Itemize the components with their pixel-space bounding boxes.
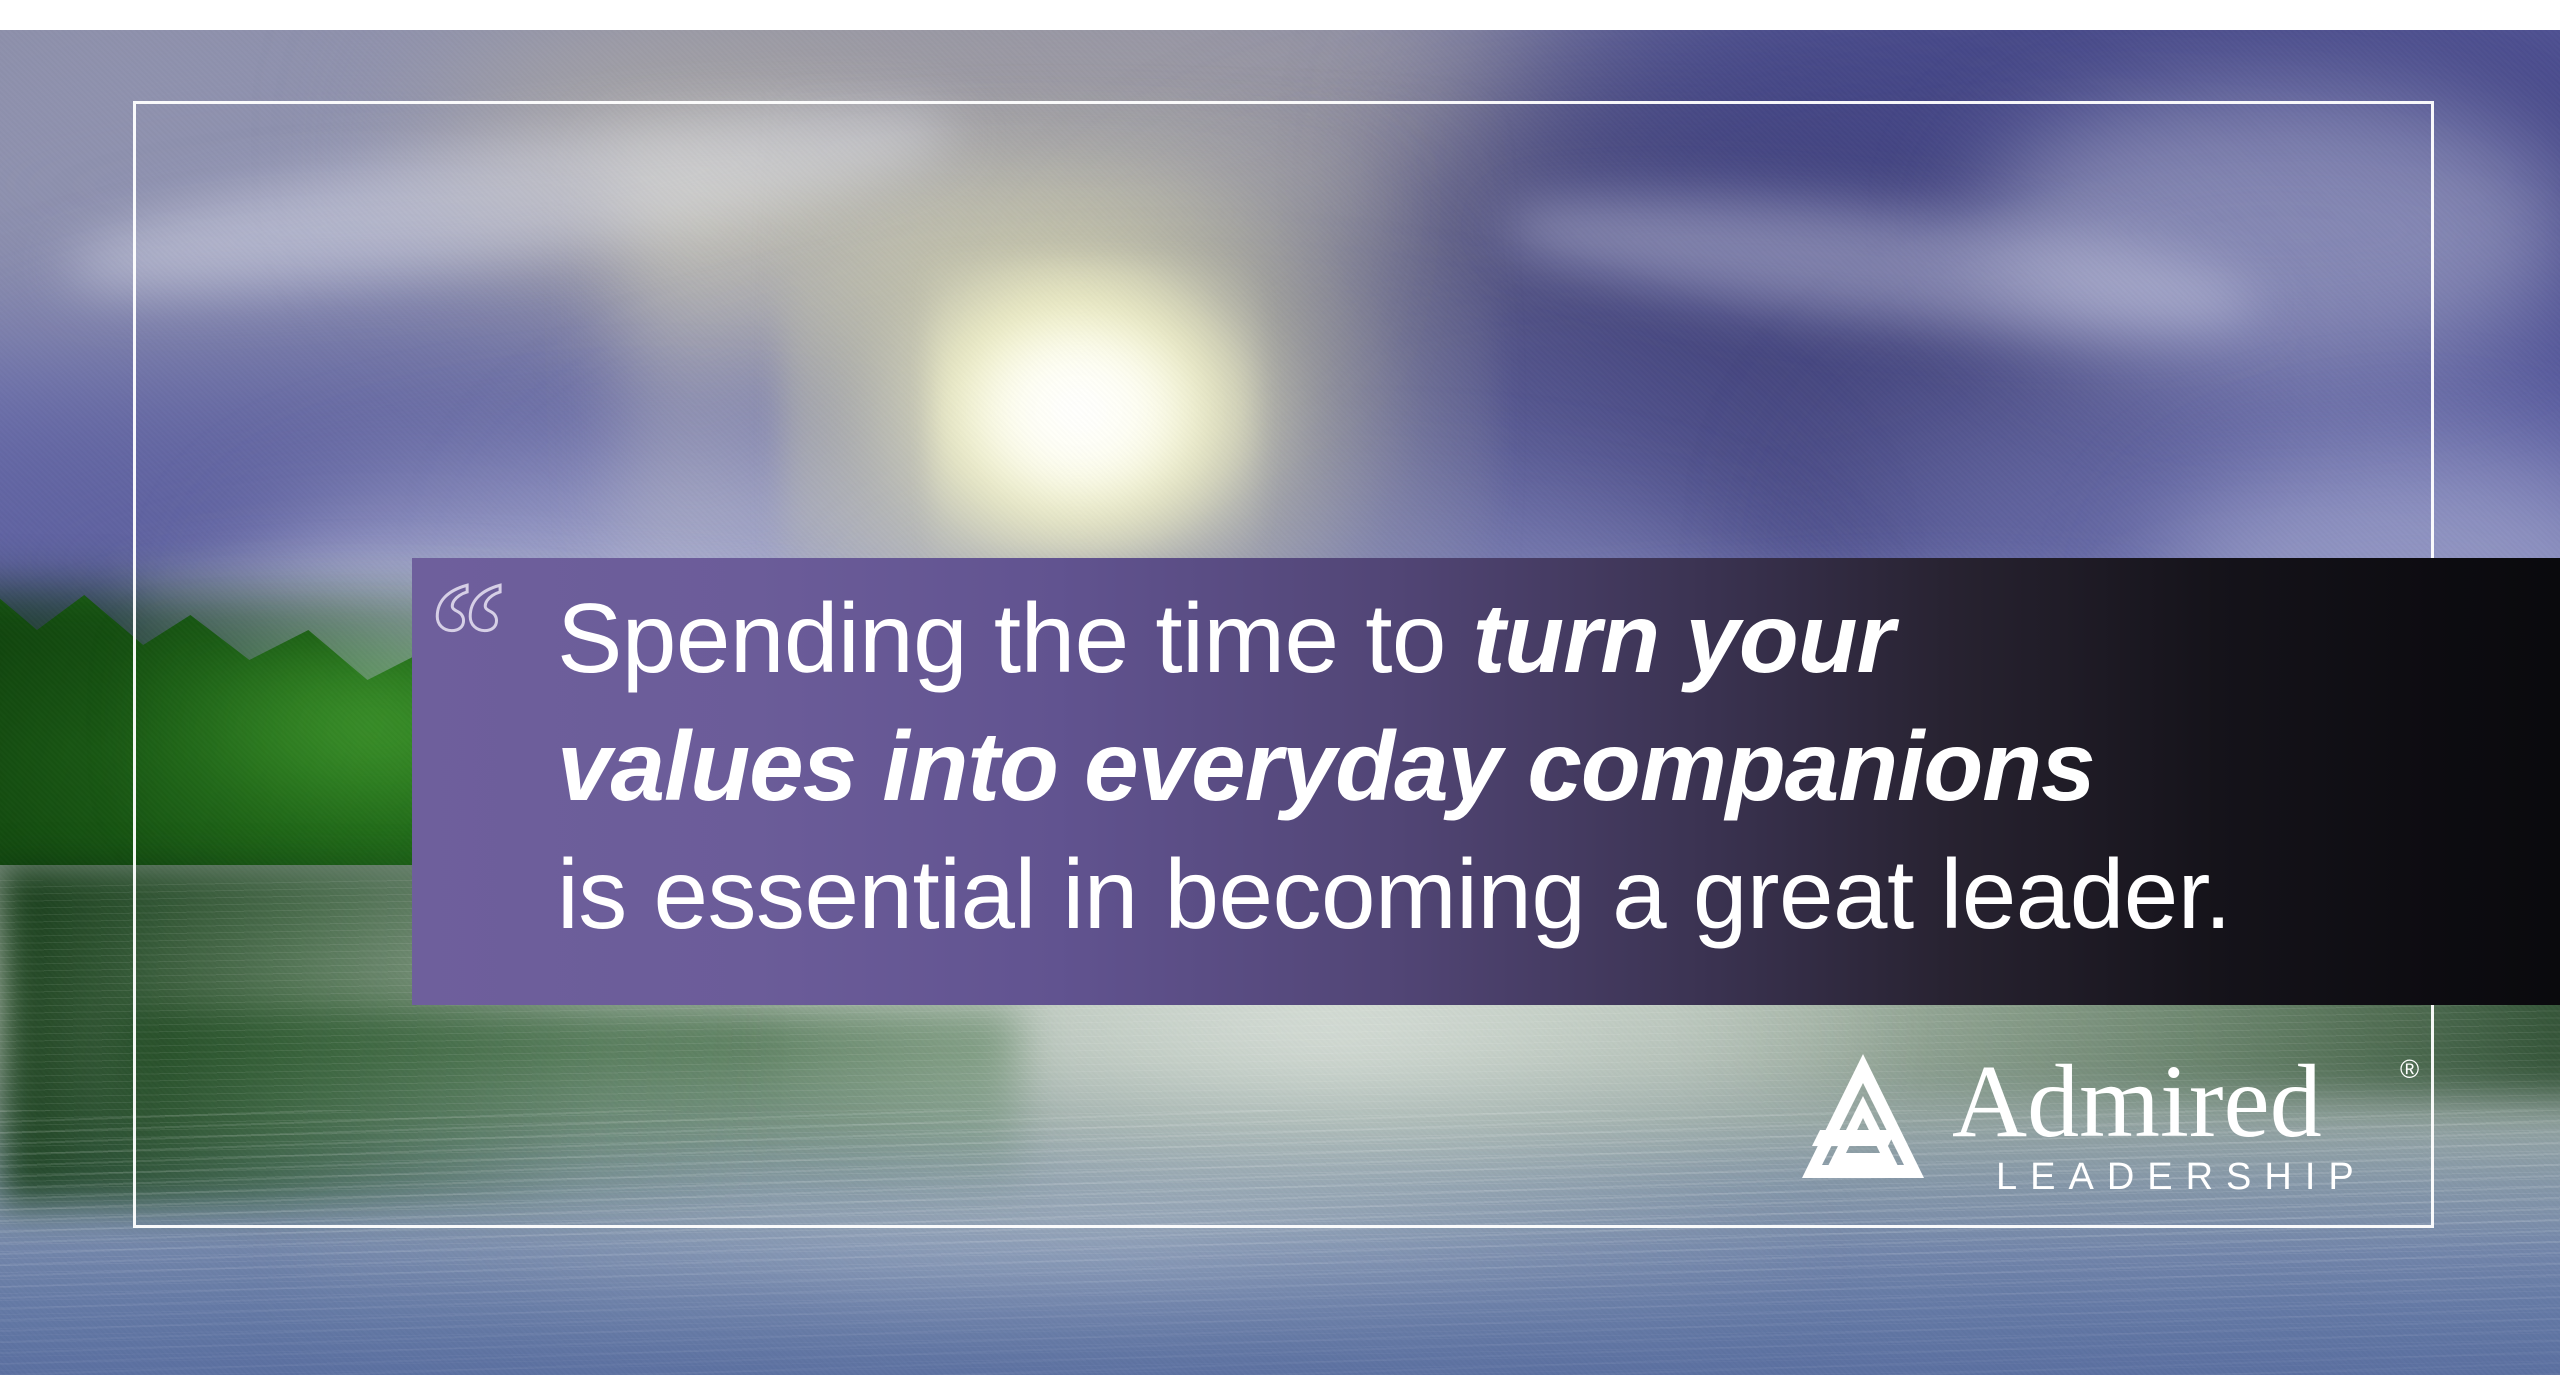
open-quote-icon: “ — [430, 560, 507, 710]
water-blue-foreground — [0, 1220, 2560, 1375]
sun-core — [930, 260, 1260, 560]
quote-line-2-segment-emphasis: values into everyday companions — [557, 711, 2095, 821]
quote-text-block: Spending the time to turn your values in… — [557, 574, 2547, 958]
top-white-strip — [0, 0, 2560, 30]
admired-triangle-icon — [1800, 1052, 1926, 1184]
logo-wordmark: Admired — [1952, 1042, 2322, 1162]
quote-line-1-segment-emphasis: turn your — [1473, 583, 1894, 693]
brand-logo[interactable]: Admired ® LEADERSHIP — [1800, 1048, 2420, 1193]
logo-subtitle: LEADERSHIP — [1996, 1156, 2367, 1199]
registered-trademark-icon: ® — [2400, 1054, 2419, 1085]
quote-overlay-band: “ Spending the time to turn your values … — [412, 558, 2560, 1005]
quote-card-canvas: “ Spending the time to turn your values … — [0, 0, 2560, 1375]
quote-line-1: Spending the time to turn your — [557, 574, 2547, 702]
quote-line-3-segment-plain: is essential in becoming a great leader. — [557, 839, 2231, 949]
quote-line-2: values into everyday companions — [557, 702, 2547, 830]
quote-line-1-segment-plain: Spending the time to — [557, 583, 1473, 693]
quote-line-3: is essential in becoming a great leader. — [557, 830, 2547, 958]
